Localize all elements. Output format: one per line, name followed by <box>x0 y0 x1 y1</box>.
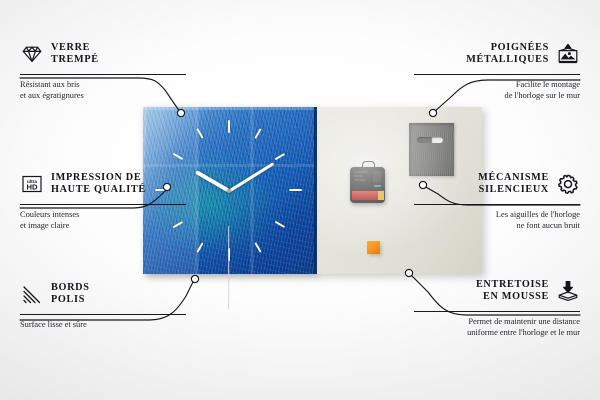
feature-desc-line1: Couleurs intenses <box>20 209 186 220</box>
diamond-icon <box>20 42 44 66</box>
ultra-hd-bottom-text: HD <box>27 183 38 192</box>
feature-header: ENTRETOISE EN MOUSSE <box>414 275 580 307</box>
clock-center-hub <box>227 189 231 193</box>
feature-title-line2: MÉTALLIQUES <box>466 54 549 67</box>
feature-title-line2: HAUTE QUALITÉ <box>51 184 146 197</box>
polished-edge-icon <box>20 282 44 306</box>
feature-desc-line1: Facilite le montage <box>414 79 580 90</box>
feature-desc-line1: Surface lisse et sûre <box>20 319 186 330</box>
product-feature-infographic: VERRE TREMPÉ Résistant aux bris et aux é… <box>0 0 600 400</box>
feature-title: MÉCANISME SILENCIEUX <box>478 172 549 197</box>
feature-desc-line2: et aux égratignures <box>20 90 186 101</box>
feature-desc-line1: Les aiguilles de l'horloge <box>414 209 580 220</box>
feature-desc-line2: et image claire <box>20 220 186 231</box>
clock-tick <box>289 189 302 191</box>
feature-description: Résistant aux bris et aux égratignures <box>20 79 186 101</box>
feature-description: Surface lisse et sûre <box>20 319 186 330</box>
mechanism-detail <box>373 171 381 182</box>
mechanism-detail <box>354 175 363 177</box>
feature-title-line1: POIGNÉES <box>466 42 549 55</box>
feature-mecanisme-silencieux: MÉCANISME SILENCIEUX Les aiguilles de l'… <box>414 168 580 231</box>
hanging-picture-icon <box>556 42 580 66</box>
foam-spacer-icon <box>556 279 580 303</box>
feature-divider <box>20 74 186 75</box>
ultra-hd-icon: ultra HD <box>20 172 44 196</box>
feature-title-line1: VERRE <box>51 42 99 55</box>
mechanism-detail <box>354 179 366 181</box>
feature-header: POIGNÉES MÉTALLIQUES <box>414 38 580 70</box>
feature-divider <box>414 204 580 205</box>
feature-divider <box>414 311 580 312</box>
feature-desc-line1: Résistant aux bris <box>20 79 186 90</box>
feature-title: ENTRETOISE EN MOUSSE <box>476 279 549 304</box>
feature-verre-trempe: VERRE TREMPÉ Résistant aux bris et aux é… <box>20 38 186 101</box>
feature-title-line1: IMPRESSION DE <box>51 172 146 185</box>
feature-title: BORDS POLIS <box>51 282 90 307</box>
mechanism-detail <box>374 185 381 187</box>
feature-desc-line1: Permet de maintenir une distance <box>414 316 580 327</box>
feature-title-line2: TREMPÉ <box>51 54 99 67</box>
feature-desc-line2: uniforme entre l'horloge et le mur <box>414 327 580 338</box>
feature-entretoise-en-mousse: ENTRETOISE EN MOUSSE Permet de maintenir… <box>414 275 580 338</box>
gear-icon <box>556 172 580 196</box>
battery-plus-terminal <box>378 191 384 200</box>
feature-impression-haute-qualite: ultra HD IMPRESSION DE HAUTE QUALITÉ Cou… <box>20 168 186 231</box>
feature-poignees-metalliques: POIGNÉES MÉTALLIQUES Facilite le montage… <box>414 38 580 101</box>
feature-desc-line2: ne font aucun bruit <box>414 220 580 231</box>
mechanism-battery <box>352 191 380 200</box>
feature-desc-line2: de l'horloge sur le mur <box>414 90 580 101</box>
feature-title-line1: ENTRETOISE <box>476 279 549 292</box>
feature-description: Permet de maintenir une distance uniform… <box>414 316 580 338</box>
clock-mechanism <box>350 167 385 203</box>
feature-title: IMPRESSION DE HAUTE QUALITÉ <box>51 172 146 197</box>
feature-title-line2: SILENCIEUX <box>478 184 549 197</box>
feature-header: ultra HD IMPRESSION DE HAUTE QUALITÉ <box>20 168 186 200</box>
feature-title: POIGNÉES MÉTALLIQUES <box>466 42 549 67</box>
feature-divider <box>20 204 186 205</box>
feature-description: Facilite le montage de l'horloge sur le … <box>414 79 580 101</box>
feature-bords-polis: BORDS POLIS Surface lisse et sûre <box>20 278 186 330</box>
foam-spacer <box>367 241 380 254</box>
feature-title-line1: BORDS <box>51 282 90 295</box>
mechanism-detail <box>354 171 368 173</box>
feature-header: BORDS POLIS <box>20 278 186 310</box>
feature-description: Couleurs intenses et image claire <box>20 209 186 231</box>
feature-title-line2: EN MOUSSE <box>476 291 549 304</box>
feature-header: VERRE TREMPÉ <box>20 38 186 70</box>
feature-title: VERRE TREMPÉ <box>51 42 99 67</box>
feature-title-line2: POLIS <box>51 294 90 307</box>
hanger-keyhole-slot <box>417 137 443 143</box>
clock-tick <box>228 120 230 133</box>
feature-header: MÉCANISME SILENCIEUX <box>414 168 580 200</box>
feature-divider <box>20 314 186 315</box>
feature-divider <box>414 74 580 75</box>
feature-description: Les aiguilles de l'horloge ne font aucun… <box>414 209 580 231</box>
feature-title-line1: MÉCANISME <box>478 172 549 185</box>
